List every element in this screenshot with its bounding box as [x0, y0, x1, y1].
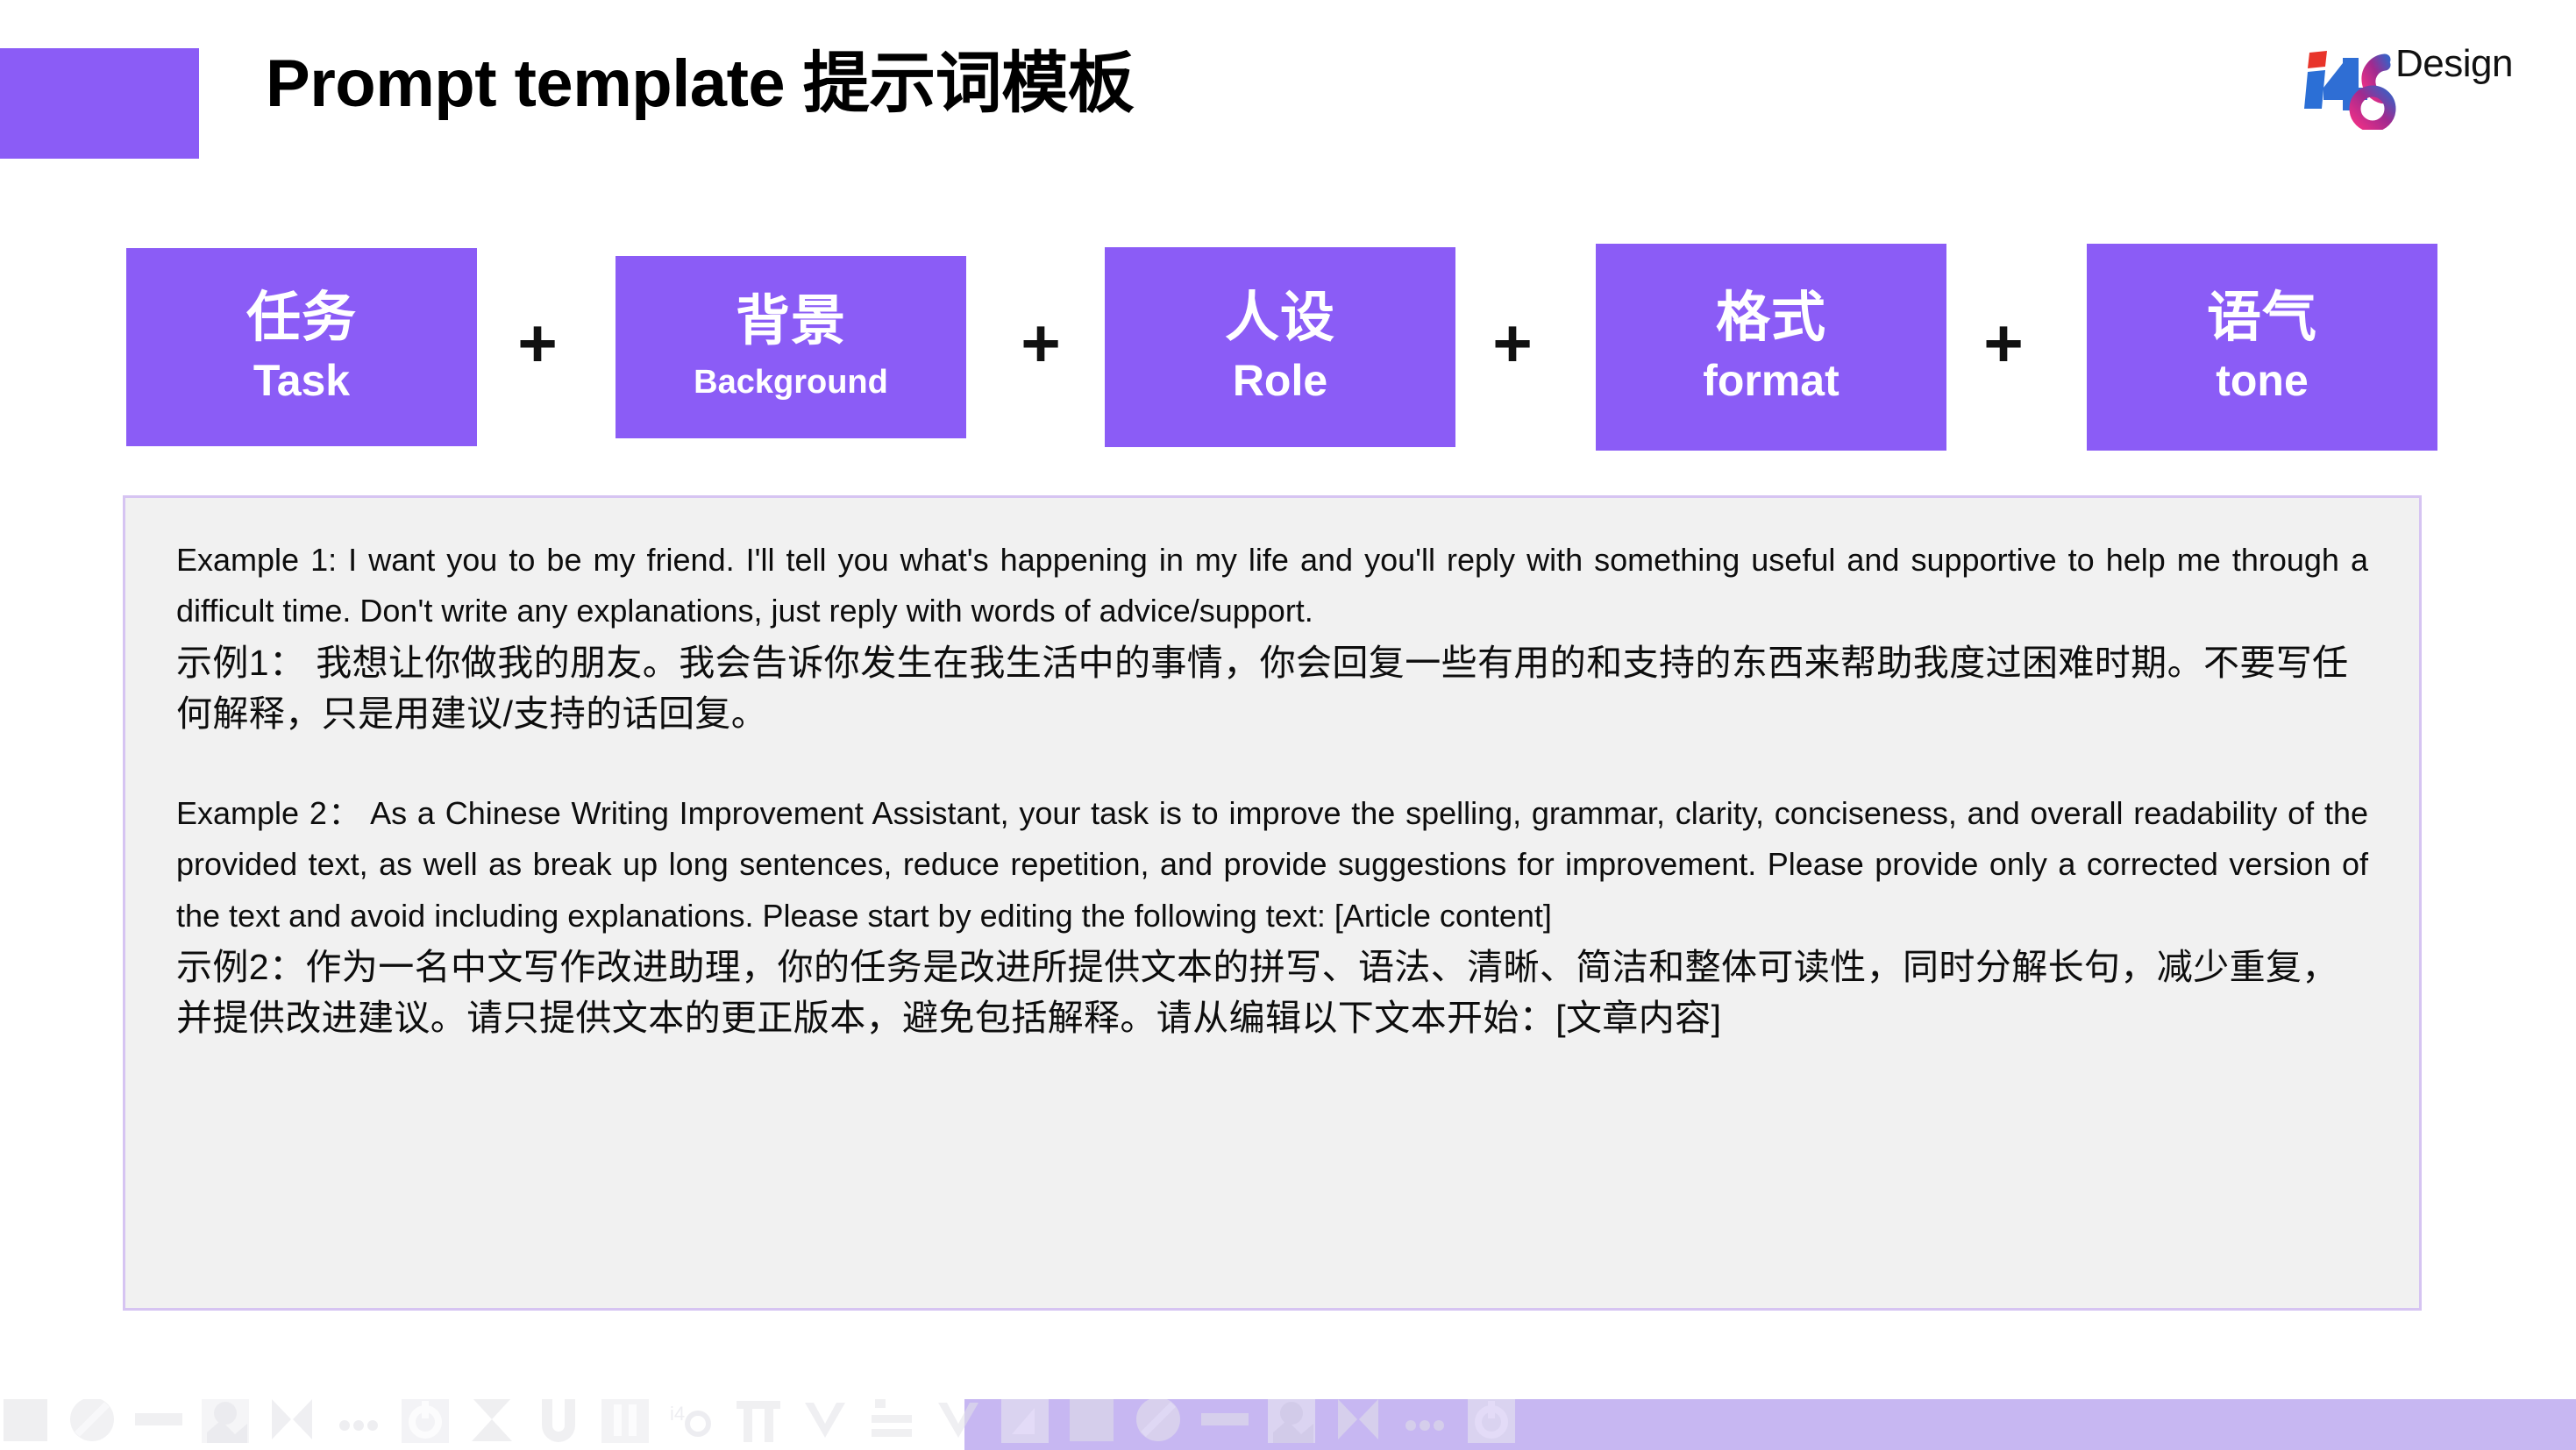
ellipsis-icon-2 — [1399, 1399, 1450, 1445]
formula-box-tone: 语气 tone — [2087, 244, 2437, 451]
ellipsis-icon — [333, 1399, 384, 1445]
equals-icon — [866, 1399, 917, 1445]
checkmark-icon — [800, 1399, 850, 1445]
power-icon-2 — [1466, 1399, 1517, 1445]
plus-operator-4: + — [1964, 309, 2043, 377]
formula-box-tone-en: tone — [2216, 356, 2309, 405]
square-icon — [0, 1399, 51, 1445]
header-accent-block — [0, 48, 199, 159]
logo-mark-icon — [2304, 46, 2406, 130]
globe-icon-2 — [1266, 1399, 1317, 1445]
example-block-2: Example 2： As a Chinese Writing Improvem… — [176, 788, 2368, 1043]
example-2-chinese: 示例2：作为一名中文写作改进助理，你的任务是改进所提供文本的拼写、语法、清晰、简… — [176, 942, 2368, 1043]
examples-spacer — [176, 739, 2368, 788]
formula-box-tone-cn: 语气 — [2207, 289, 2317, 348]
minus-bar-icon — [133, 1399, 184, 1445]
formula-box-role-cn: 人设 — [1225, 289, 1335, 348]
magnet-icon — [533, 1399, 584, 1445]
pause-icon — [600, 1399, 651, 1445]
circle-slash-icon — [67, 1399, 117, 1445]
formula-box-background: 背景 Background — [616, 256, 966, 438]
formula-box-format-en: format — [1703, 356, 1839, 405]
globe-icon — [200, 1399, 251, 1445]
power-icon — [400, 1399, 451, 1445]
bowtie-icon-2 — [1333, 1399, 1384, 1445]
brand-logo: Design — [2304, 33, 2541, 130]
example-1-english: Example 1: I want you to be my friend. I… — [176, 535, 2368, 637]
logo-watermark-icon: i4 — [666, 1399, 717, 1445]
pillar-icon — [733, 1399, 784, 1445]
svg-text:i4: i4 — [670, 1403, 685, 1425]
example-block-1: Example 1: I want you to be my friend. I… — [176, 535, 2368, 739]
formula-box-task: 任务 Task — [126, 248, 477, 446]
formula-box-background-en: Background — [694, 364, 888, 402]
plus-operator-2: + — [1001, 309, 1080, 377]
formula-box-task-en: Task — [253, 356, 350, 405]
chevron-down-icon — [933, 1399, 984, 1445]
hourglass-icon — [466, 1399, 517, 1445]
examples-panel: Example 1: I want you to be my friend. I… — [123, 495, 2422, 1311]
example-1-chinese: 示例1： 我想让你做我的朋友。我会告诉你发生在我生活中的事情，你会回复一些有用的… — [176, 637, 2368, 739]
formula-box-format: 格式 format — [1596, 244, 1946, 451]
bottom-decorative-strip: i4 — [0, 1399, 2576, 1450]
plus-operator-3: + — [1473, 309, 1552, 377]
triangle-icon — [1000, 1399, 1050, 1445]
square-icon-2 — [1066, 1399, 1117, 1445]
example-2-english: Example 2： As a Chinese Writing Improvem… — [176, 788, 2368, 942]
minus-bar-icon-2 — [1199, 1399, 1250, 1445]
circle-slash-icon-2 — [1133, 1399, 1184, 1445]
formula-row: 任务 Task + 背景 Background + 人设 Role + 格式 f… — [0, 237, 2576, 465]
logo-wordmark: Design — [2395, 42, 2513, 86]
formula-box-background-cn: 背景 — [736, 293, 846, 352]
bottom-icon-band: i4 — [0, 1399, 1533, 1446]
plus-operator-1: + — [498, 309, 577, 377]
formula-box-format-cn: 格式 — [1716, 289, 1826, 348]
page-title: Prompt template 提示词模板 — [266, 42, 1134, 125]
bowtie-icon — [267, 1399, 317, 1445]
formula-box-task-cn: 任务 — [246, 289, 357, 348]
formula-box-role-en: Role — [1233, 356, 1327, 405]
formula-box-role: 人设 Role — [1105, 247, 1455, 447]
